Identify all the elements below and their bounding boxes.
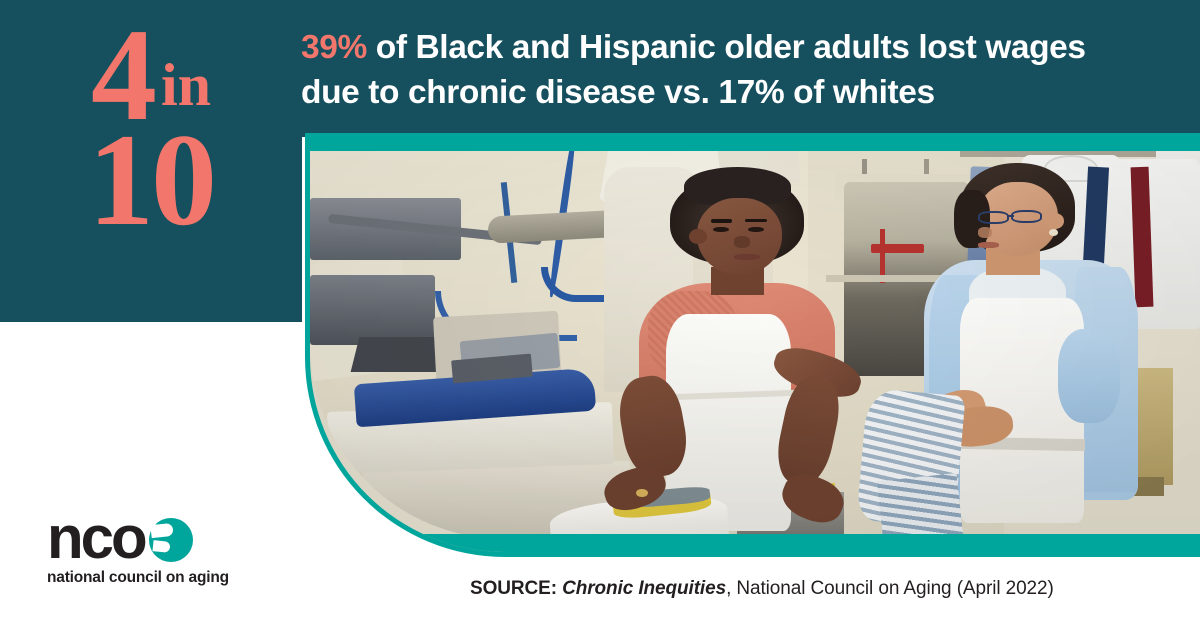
worker-right-ear: [1046, 213, 1064, 229]
striped-linen-lower: [877, 473, 963, 539]
source-label: SOURCE:: [470, 578, 557, 599]
worker-right-nose: [978, 227, 992, 239]
ncoa-tagline: national council on aging: [47, 569, 257, 587]
ncoa-a-notch-lower: [152, 540, 170, 553]
worker-left-ring: [636, 489, 648, 498]
worker-right-glasses-left-lens: [978, 211, 1008, 223]
ncoa-wordmark-text: nco: [47, 513, 145, 562]
photo-top-accent-bar: [310, 133, 1200, 151]
source-publisher: , National Council on Aging: [726, 578, 951, 599]
ncoa-logo[interactable]: nco national council on aging: [47, 513, 257, 587]
press-body: [310, 275, 435, 345]
worker-left-nose: [734, 236, 750, 248]
headline-highlight-stat: 39%: [301, 29, 367, 66]
photo-frame: [305, 133, 1200, 557]
worker-right-mouth: [978, 242, 999, 247]
ncoa-wordmark: nco: [47, 513, 257, 562]
source-line: SOURCE: Chronic Inequities, National Cou…: [470, 578, 1170, 600]
red-handle: [871, 244, 924, 253]
big-stat: 4in 10: [0, 14, 302, 241]
worker-left-ear: [689, 229, 707, 245]
source-title: Chronic Inequities: [562, 578, 726, 599]
stat-denominator: 10: [0, 119, 302, 240]
headline-line-two: due to chronic disease vs. 17% of whites: [301, 74, 935, 111]
infographic-canvas: 4in 10 39% of Black and Hispanic older a…: [0, 0, 1200, 630]
source-date: (April 2022): [957, 578, 1054, 599]
worker-left-eyebrow-right: [745, 219, 766, 222]
headline: 39% of Black and Hispanic older adults l…: [301, 26, 1181, 115]
laundry-workplace-photo: [310, 151, 1200, 539]
worker-right-earring: [1049, 229, 1059, 236]
photo-bottom-accent-bar: [310, 534, 1200, 552]
worker-right-glasses-right-lens: [1011, 210, 1041, 222]
worker-right-arm: [1058, 329, 1120, 422]
ncoa-a-mark-icon: [149, 516, 193, 562]
worker-left-eyebrow-left: [711, 219, 732, 222]
headline-line-one-rest: of Black and Hispanic older adults lost …: [367, 29, 1086, 66]
worker-right-glasses-bridge: [1008, 215, 1014, 217]
worker-left-mouth: [734, 254, 761, 260]
